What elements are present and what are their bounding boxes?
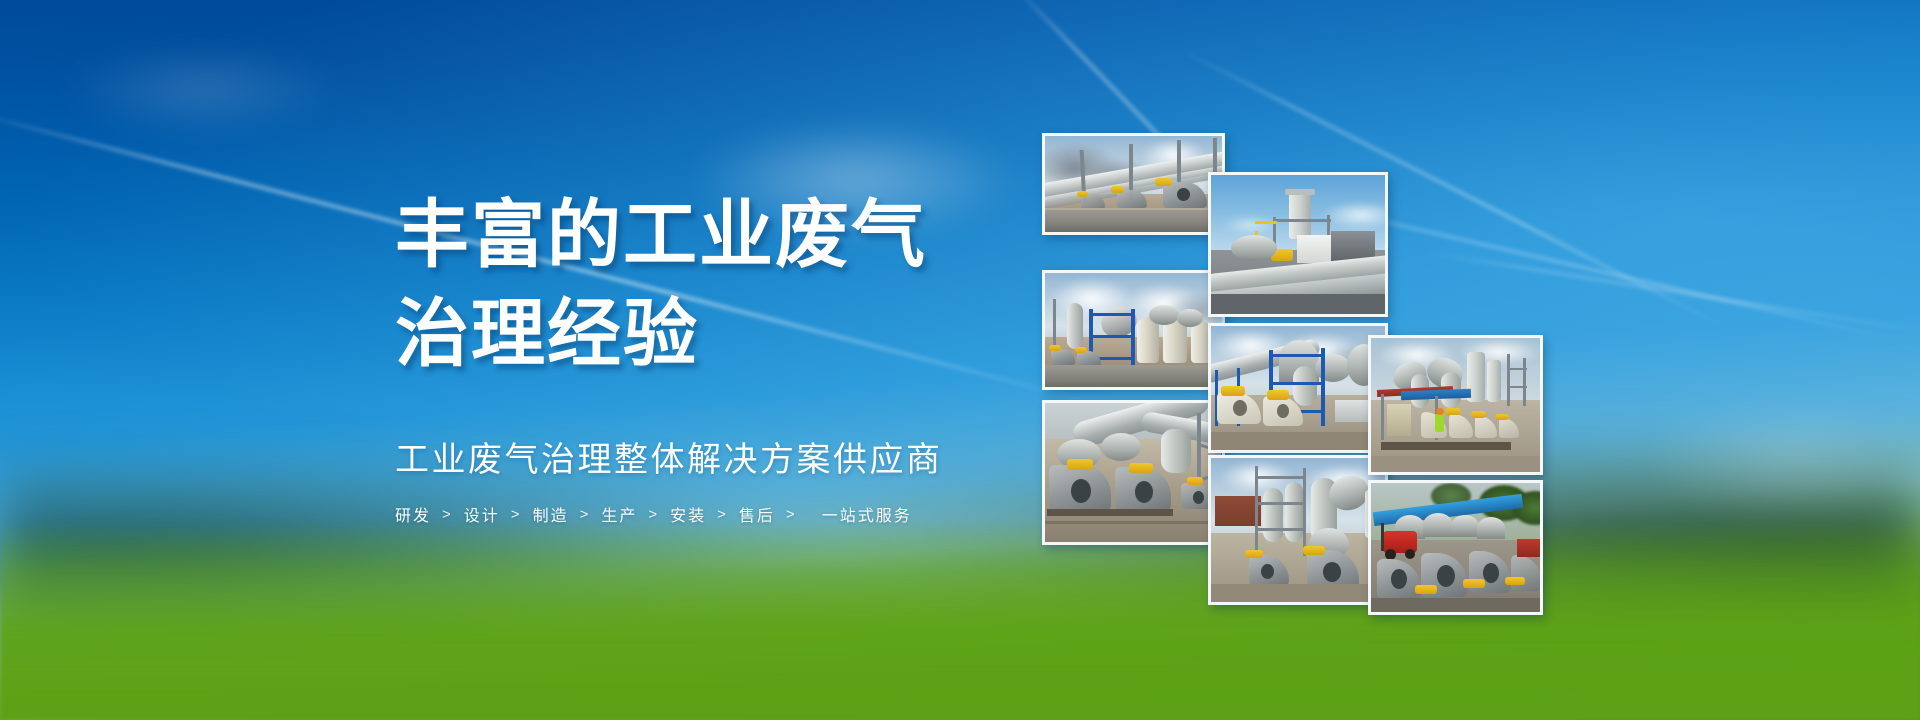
gallery-photo-5[interactable] [1208, 323, 1388, 453]
gallery-photo-6[interactable] [1208, 455, 1388, 605]
gallery-photo-8[interactable] [1368, 480, 1543, 615]
project-photo-gallery [0, 0, 1920, 720]
gallery-photo-1[interactable] [1042, 133, 1225, 235]
hero-banner: 丰富的工业废气 治理经验 工业废气治理整体解决方案供应商 研发 > 设计 > 制… [0, 0, 1920, 720]
gallery-photo-2[interactable] [1042, 270, 1225, 390]
gallery-photo-4[interactable] [1208, 172, 1388, 317]
gallery-photo-7[interactable] [1368, 335, 1543, 475]
gallery-photo-3[interactable] [1042, 400, 1225, 545]
